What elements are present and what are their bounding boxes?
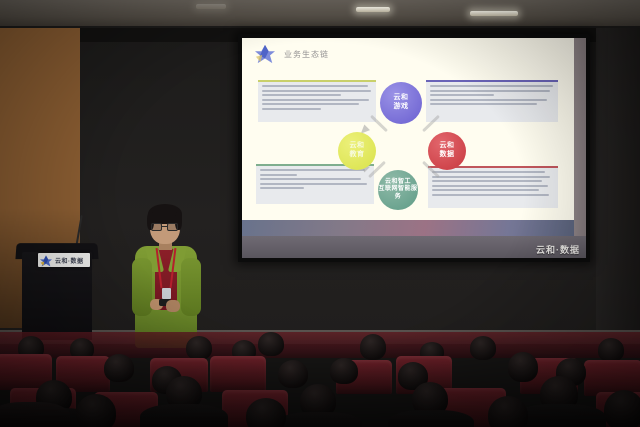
presentation-slide: 业务生态链	[242, 38, 574, 236]
watermark-text: 云和·数据	[536, 243, 580, 256]
circle-label-line1: 云和	[394, 94, 409, 103]
badge	[162, 288, 171, 299]
audience-head	[470, 336, 496, 360]
audience	[0, 330, 640, 427]
audience-shoulders	[140, 404, 228, 427]
presenter-arm-right	[181, 258, 201, 316]
audience-head	[360, 334, 386, 360]
audience-head	[76, 394, 116, 427]
lecture-hall-photo: 业务生态链	[0, 0, 640, 427]
presenter-hand-right	[166, 300, 180, 312]
ceiling-light	[196, 4, 226, 9]
circle-label-line2: 教育	[350, 151, 365, 160]
audience-head	[278, 360, 308, 388]
right-wall	[596, 28, 640, 340]
slide-header: 业务生态链	[254, 44, 329, 64]
presenter-arm-left	[132, 258, 152, 316]
diagram-circle-education: 云和 教育	[338, 132, 376, 170]
slide-title: 业务生态链	[284, 49, 329, 60]
circle-label-line2: 游戏	[394, 103, 409, 112]
seat-row	[0, 332, 640, 358]
audience-head	[488, 396, 528, 427]
slide-watermark: 云和·数据	[536, 243, 580, 256]
audience-head	[258, 332, 284, 356]
circle-label-line2: 互联网智能服务	[378, 186, 418, 201]
podium-plate-text: 云和·数据	[55, 256, 84, 265]
star-logo-icon	[39, 254, 53, 266]
slide-textbox-bottom-left	[256, 164, 374, 204]
audience-head	[104, 354, 134, 382]
slide-textbox-bottom-right	[428, 166, 558, 208]
audience-head	[604, 390, 640, 427]
audience-head	[246, 398, 286, 427]
audience-head	[186, 336, 212, 360]
presenter	[130, 196, 204, 348]
diagram-circle-games: 云和 游戏	[380, 82, 422, 124]
projector-letterbox-right	[574, 38, 586, 258]
circle-label-line1: 云和	[350, 142, 365, 151]
diagram-circle-internet-services: 云和智工 互联网智能服务	[378, 170, 418, 210]
diagram-circle-data: 云和 数据	[428, 132, 466, 170]
audience-head	[508, 352, 538, 382]
projection-screen: 业务生态链	[238, 34, 590, 262]
audience-head	[330, 358, 358, 384]
seat	[210, 356, 266, 392]
eyeglasses-icon	[150, 223, 180, 231]
ceiling-light	[356, 7, 390, 12]
audience-head	[598, 338, 624, 362]
ceiling-light	[470, 11, 518, 16]
audience-shoulders	[388, 410, 474, 427]
audience-shoulders	[276, 412, 362, 427]
circle-label-line2: 数据	[440, 151, 455, 160]
circle-label-line1: 云和	[440, 142, 455, 151]
slide-textbox-top-left	[258, 80, 376, 122]
audience-shoulders	[0, 402, 70, 427]
slide-textbox-top-right	[426, 80, 558, 122]
projector-letterbox-bottom	[242, 236, 586, 258]
star-logo-icon	[254, 44, 276, 64]
podium-nameplate: 云和·数据	[38, 253, 90, 267]
slide-footer-ribbon	[242, 220, 574, 236]
screen-surface: 业务生态链	[242, 38, 586, 258]
